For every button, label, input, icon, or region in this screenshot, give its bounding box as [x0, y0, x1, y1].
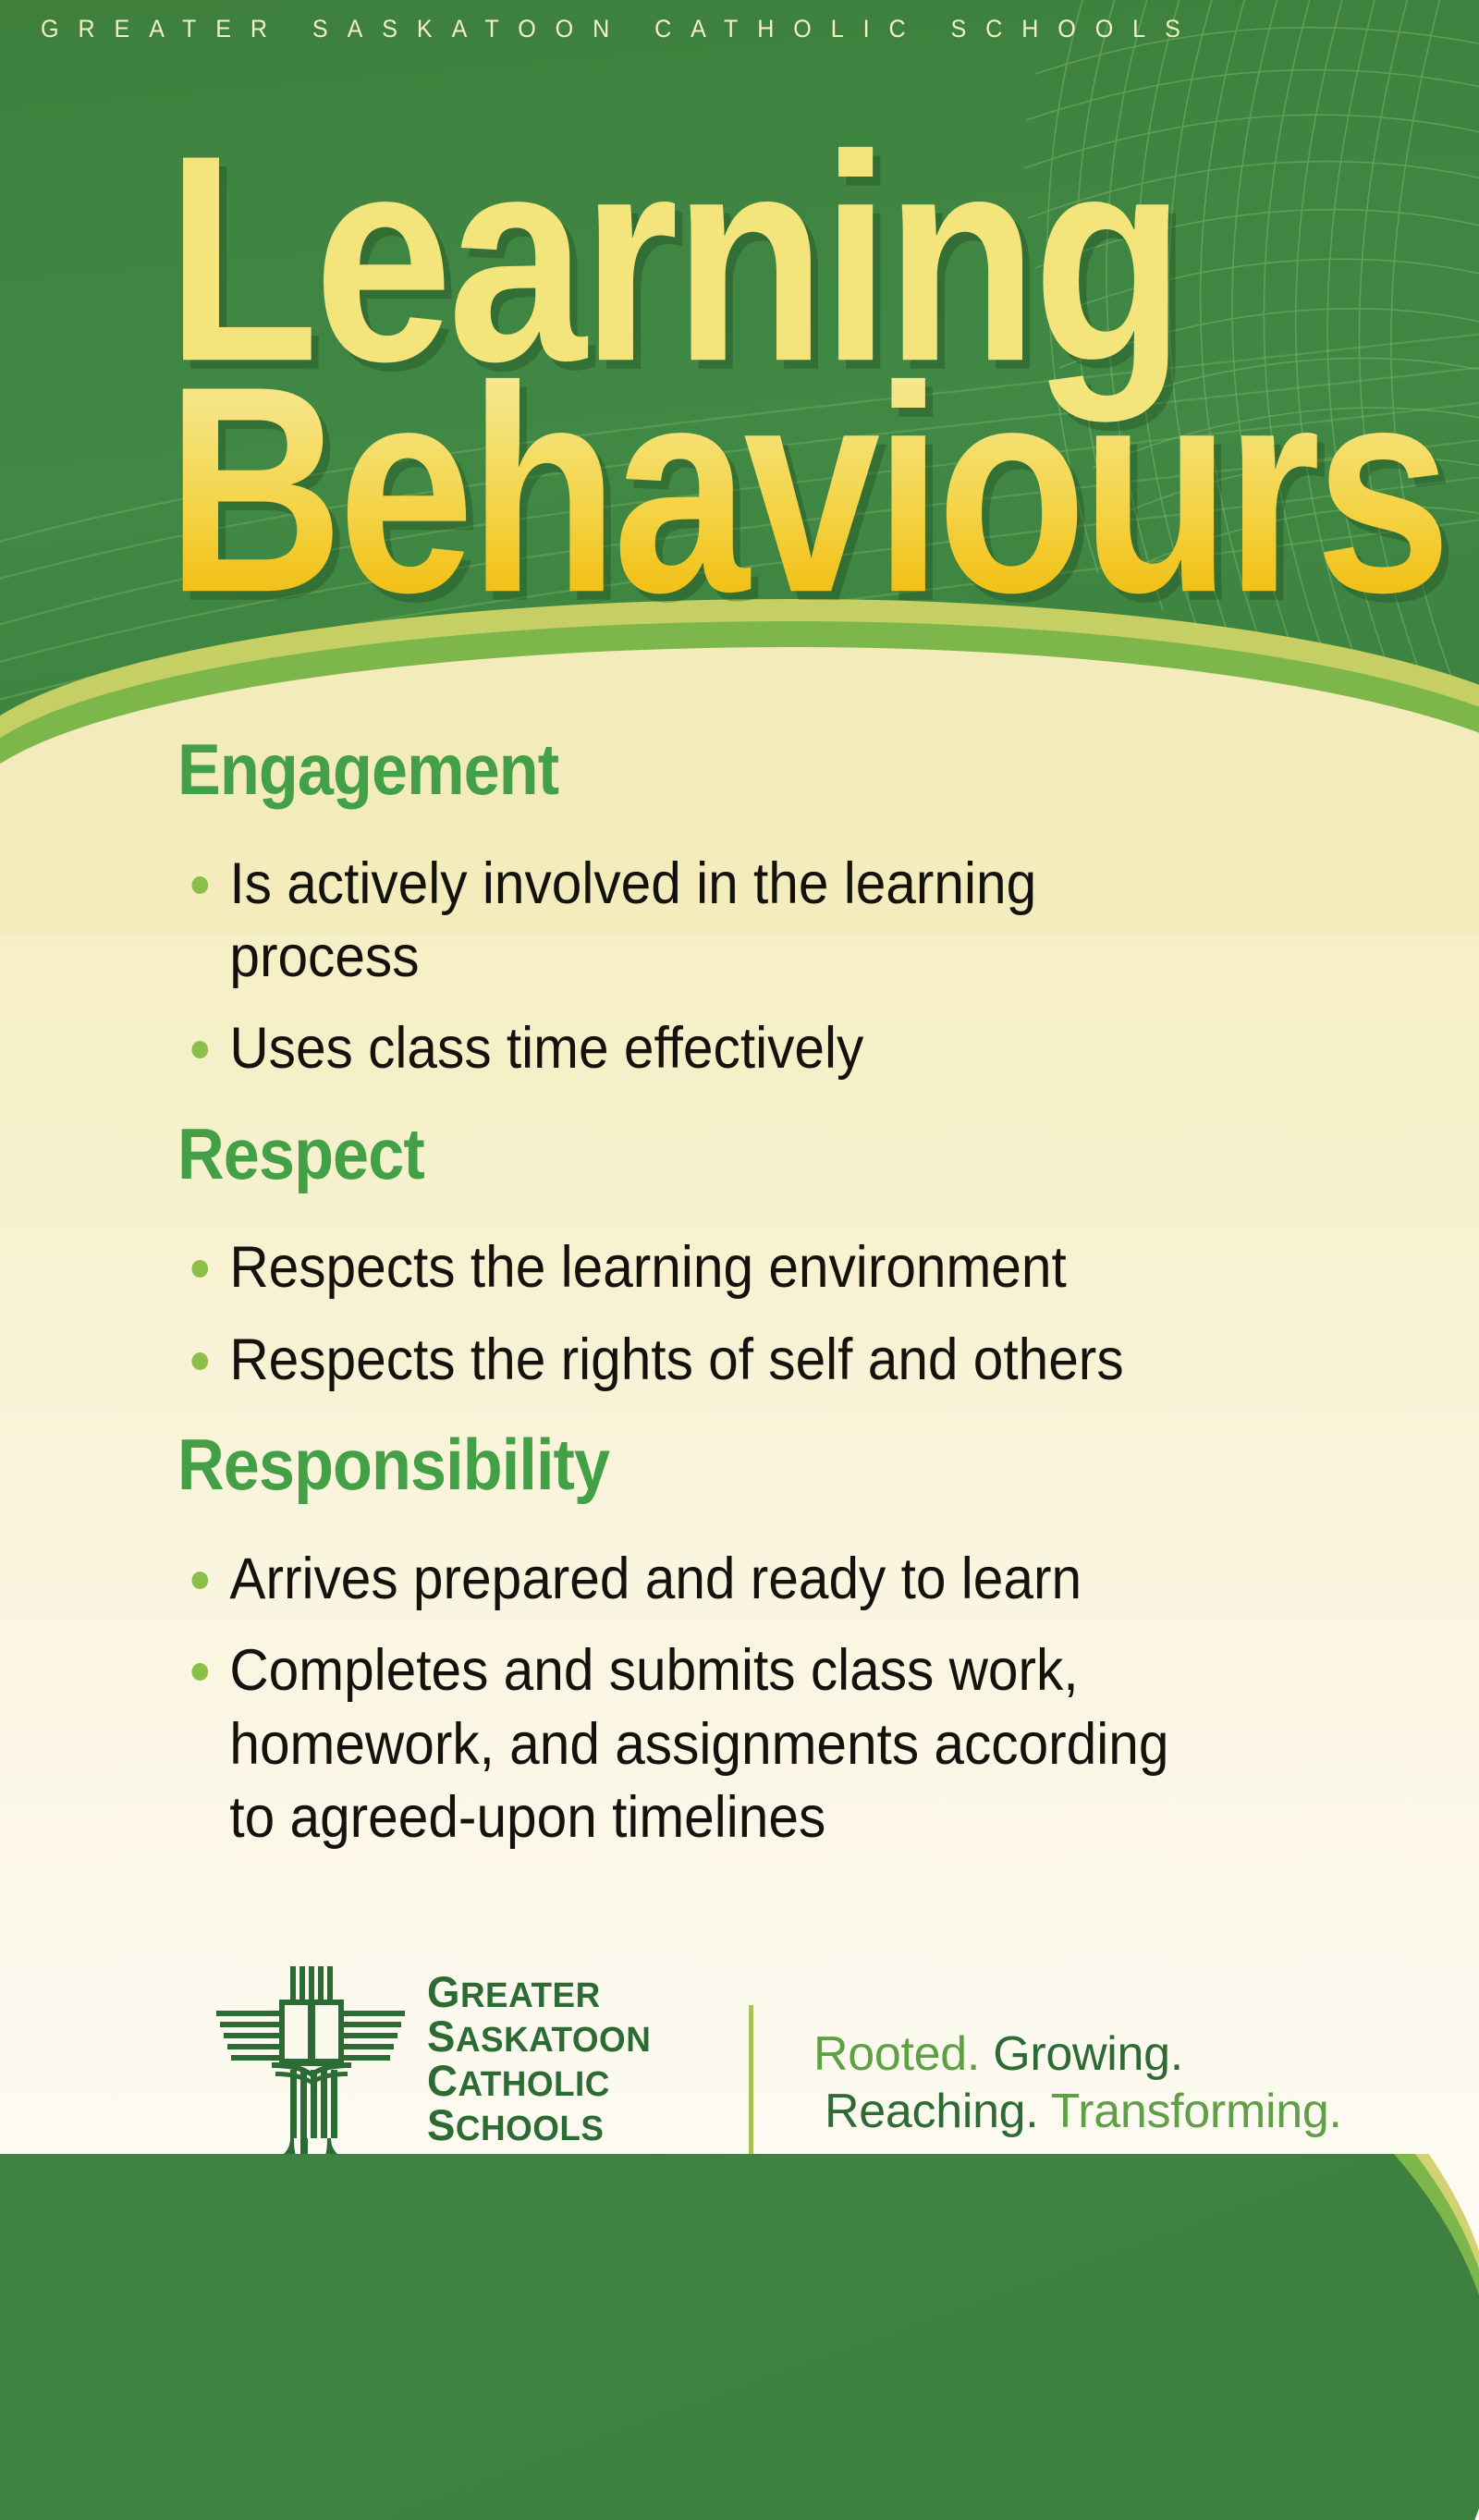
- bullet-list: Respects the learning environment Respec…: [0, 1231, 1479, 1397]
- tagline-word-reaching: Reaching.: [825, 2085, 1038, 2138]
- bullet-dot-icon: [191, 1041, 208, 1058]
- logo-word-line: CATHOLIC: [427, 2059, 651, 2103]
- poster: GREATER SASKATOON CATHOLIC SCHOOLS Learn…: [0, 0, 1479, 2520]
- bullet-text: Completes and submits class work, homewo…: [229, 1638, 1168, 1850]
- list-item: Respects the rights of self and others: [185, 1324, 1218, 1397]
- bullet-text: Uses class time effectively: [229, 1016, 863, 1081]
- title-line-behaviours: Behaviours: [166, 342, 1446, 636]
- tagline-word-rooted: Rooted.: [813, 2027, 980, 2081]
- logo-word-line: SASKATOON: [427, 2014, 651, 2059]
- bullet-dot-icon: [191, 1572, 208, 1589]
- logo-word-cap: S: [427, 2100, 456, 2149]
- bullet-dot-icon: [191, 1663, 208, 1681]
- list-spacer: [0, 1616, 1479, 1634]
- bullet-dot-icon: [191, 876, 208, 894]
- logo-word-rest: ASKATOON: [456, 2021, 651, 2060]
- list-item: Is actively involved in the learning pro…: [185, 848, 1218, 995]
- bullet-text: Arrives prepared and ready to learn: [229, 1547, 1082, 1611]
- bullet-text: Respects the learning environment: [229, 1235, 1066, 1300]
- tagline-word-growing: Growing.: [993, 2027, 1183, 2081]
- footer-wave: [0, 2154, 1479, 2520]
- section-heading: Respect: [177, 1119, 1349, 1190]
- bullet-list: Arrives prepared and ready to learn Comp…: [0, 1543, 1479, 1855]
- tagline-line-2: Reaching. Transforming.: [804, 2083, 1396, 2140]
- list-item: Uses class time effectively: [185, 1012, 1218, 1085]
- bullet-text: Respects the rights of self and others: [229, 1327, 1123, 1392]
- tagline-word-transforming: Transforming.: [1051, 2085, 1342, 2138]
- bullet-text: Is actively involved in the learning pro…: [229, 851, 1036, 989]
- logo-word-rest: ATHOLIC: [458, 2065, 609, 2104]
- content-sections: Engagement Is actively involved in the l…: [0, 735, 1479, 1854]
- list-spacer: [0, 1305, 1479, 1324]
- section-responsibility: Responsibility Arrives prepared and read…: [0, 1430, 1479, 1854]
- section-heading: Engagement: [177, 735, 1349, 805]
- list-item: Respects the learning environment: [185, 1231, 1218, 1304]
- list-item: Arrives prepared and ready to learn: [185, 1543, 1218, 1616]
- section-respect: Respect Respects the learning environmen…: [0, 1119, 1479, 1397]
- list-spacer: [0, 994, 1479, 1012]
- bullet-dot-icon: [191, 1260, 208, 1278]
- bullet-list: Is actively involved in the learning pro…: [0, 848, 1479, 1086]
- logo-word-cap: S: [427, 2012, 456, 2061]
- logo-word-cap: C: [427, 2056, 458, 2105]
- tagline: Rooted. Growing. Reaching. Transforming.: [804, 2025, 1396, 2141]
- poster-title: Learning Behaviours: [0, 0, 1479, 610]
- logo-word-cap: G: [427, 1967, 460, 2016]
- logo-word-rest: REATER: [460, 1976, 601, 2015]
- bullet-dot-icon: [191, 1352, 208, 1370]
- logo-word-line: SCHOOLS: [427, 2103, 651, 2147]
- logo-word-line: GREATER: [427, 1970, 651, 2014]
- list-item: Completes and submits class work, homewo…: [185, 1634, 1218, 1854]
- tagline-line-1: Rooted. Growing.: [804, 2025, 1396, 2083]
- section-heading: Responsibility: [177, 1430, 1349, 1500]
- logo-word-rest: CHOOLS: [456, 2110, 605, 2148]
- footer-wave-dark-green: [0, 2154, 1479, 2520]
- section-engagement: Engagement Is actively involved in the l…: [0, 735, 1479, 1086]
- logo-wordmark: GREATER SASKATOON CATHOLIC SCHOOLS: [427, 1970, 658, 2147]
